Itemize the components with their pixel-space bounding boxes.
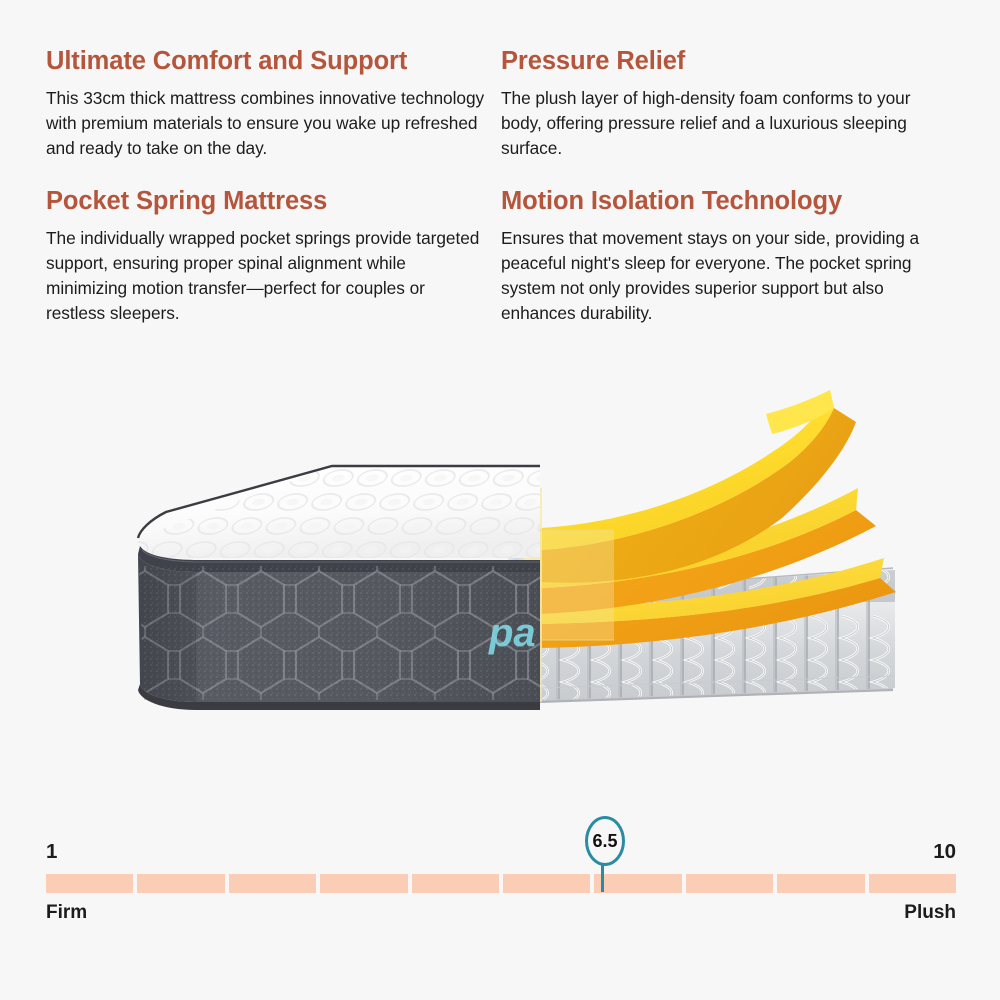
brand-logo-text: pa [488,611,536,655]
scale-segment [686,874,773,893]
scale-firm-label: Firm [46,902,87,924]
feature-grid: Ultimate Comfort and Support This 33cm t… [46,46,966,325]
marker-stem [601,864,604,892]
feature-title: Ultimate Comfort and Support [46,46,486,76]
feature-title: Pressure Relief [501,46,941,76]
scale-bottom-labels: Firm Plush [46,902,956,928]
feature-card-ultimate-comfort: Ultimate Comfort and Support This 33cm t… [46,46,486,160]
feature-title: Motion Isolation Technology [501,186,941,216]
mattress-body: pa [130,460,550,710]
feature-card-motion-isolation: Motion Isolation Technology Ensures that… [501,186,941,325]
scale-segment [777,874,864,893]
feature-card-pressure-relief: Pressure Relief The plush layer of high-… [501,46,941,160]
scale-segment [869,874,956,893]
scale-segment [412,874,499,893]
marker-bubble: 6.5 [585,816,625,866]
feature-body: This 33cm thick mattress combines innova… [46,86,486,160]
feature-body: The individually wrapped pocket springs … [46,226,486,325]
scale-segment [46,874,133,893]
feature-card-pocket-spring: Pocket Spring Mattress The individually … [46,186,486,325]
feature-body: The plush layer of high-density foam con… [501,86,941,160]
scale-track[interactable] [46,874,956,893]
scale-segment [137,874,224,893]
firmness-value-label: 6.5 [592,832,617,850]
scale-plush-label: Plush [904,902,956,924]
scale-end-labels: 1 10 [46,840,956,866]
feature-body: Ensures that movement stays on your side… [501,226,941,325]
firmness-value-marker[interactable]: 6.5 [572,812,632,894]
mattress-cutaway-illustration: pa [0,370,1000,770]
feature-title: Pocket Spring Mattress [46,186,486,216]
scale-max-label: 10 [933,840,956,864]
firmness-scale: 1 10 6.5 Firm Plush [46,812,956,932]
scale-segment [229,874,316,893]
scale-segment [320,874,407,893]
scale-min-label: 1 [46,840,57,864]
